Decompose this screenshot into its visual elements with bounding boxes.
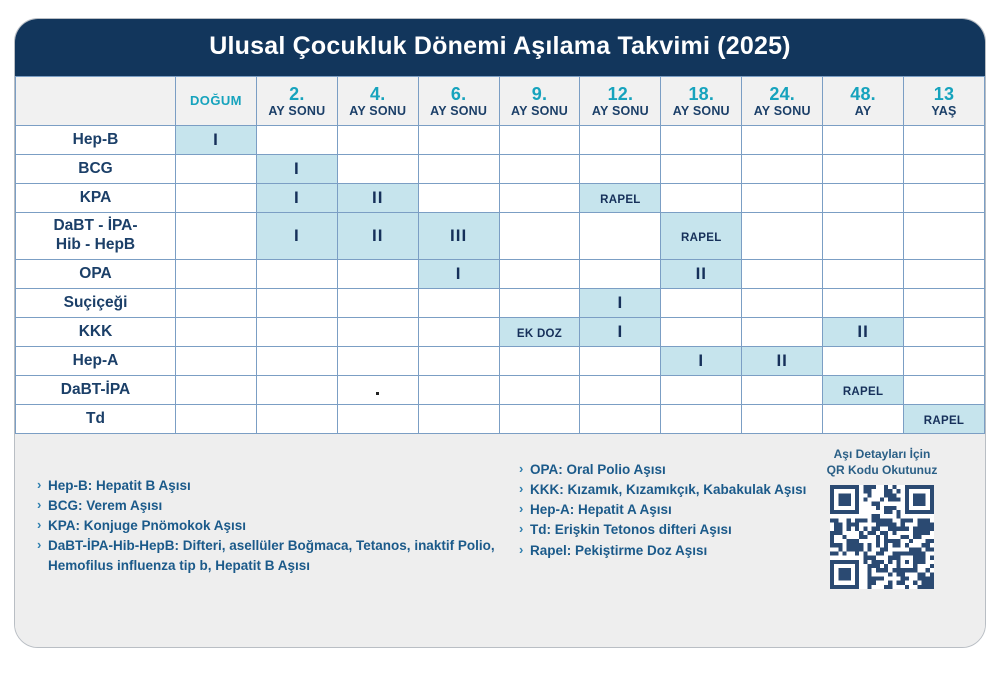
schedule-cell-empty [176,289,257,318]
schedule-cell-empty [176,260,257,289]
schedule-dose-cell: RAPEL [580,184,661,213]
table-row: SuçiçeğiI [16,289,985,318]
qr-code-image[interactable] [830,485,934,589]
header-col-8: 24.AY SONU [742,77,823,126]
chevron-right-icon: › [37,496,48,514]
legend-item: ›Hep-B: Hepatit B Aşısı [37,476,507,495]
schedule-cell-empty [256,260,337,289]
legend-item-label: Hep-B: Hepatit B Aşısı [48,476,507,495]
schedule-cell-empty [337,289,418,318]
dose-text-mark: RAPEL [600,194,640,206]
dose-roman-mark: I [213,130,219,149]
chevron-right-icon: › [519,500,530,518]
schedule-cell-empty [580,376,661,405]
schedule-cell-empty [742,260,823,289]
legend-item: ›DaBT-İPA-Hib-HepB: Difteri, asellüler B… [37,536,507,574]
schedule-dose-cell: II [337,184,418,213]
header-col-9: 48.AY [823,77,904,126]
schedule-dose-cell: RAPEL [661,213,742,260]
legend-item: ›BCG: Verem Aşısı [37,496,507,515]
header-age-unit: AY [823,104,903,118]
schedule-dose-cell: I [580,318,661,347]
dose-roman-mark: II [372,188,383,207]
schedule-cell-empty [256,347,337,376]
schedule-dose-cell: RAPEL [823,376,904,405]
vaccine-name-cell: KPA [16,184,176,213]
header-age-number: 48. [823,84,903,104]
table-row: Hep-AIII [16,347,985,376]
schedule-cell-empty [418,405,499,434]
schedule-dose-cell: I [256,155,337,184]
schedule-cell-empty [742,318,823,347]
schedule-cell-empty [742,155,823,184]
header-col-6: 12.AY SONU [580,77,661,126]
schedule-cell-empty [904,318,985,347]
schedule-dose-cell: I [418,260,499,289]
dose-roman-mark: II [857,322,868,341]
vaccine-name-cell: BCG [16,155,176,184]
schedule-cell-empty [580,405,661,434]
schedule-cell-empty [256,376,337,405]
schedule-cell-empty [661,184,742,213]
legend-item-label: BCG: Verem Aşısı [48,496,507,515]
table-body: Hep-BIBCGIKPAIIIRAPELDaBT - İPA- Hib - H… [16,126,985,434]
schedule-cell-empty [418,184,499,213]
header-age-unit: AY SONU [257,104,337,118]
schedule-cell-empty [742,289,823,318]
schedule-cell-speck [337,376,418,405]
header-age-number: 2. [257,84,337,104]
page-title: Ulusal Çocukluk Dönemi Aşılama Takvimi (… [15,19,985,76]
dose-roman-mark: I [294,188,300,207]
header-col-3: 4.AY SONU [337,77,418,126]
dose-roman-mark: III [450,226,467,245]
page-root: Ulusal Çocukluk Dönemi Aşılama Takvimi (… [0,0,1000,674]
schedule-cell-empty [499,405,580,434]
schedule-cell-empty [176,184,257,213]
header-col-7: 18.AY SONU [661,77,742,126]
schedule-cell-empty [337,318,418,347]
schedule-cell-empty [904,126,985,155]
dose-roman-mark: I [294,226,300,245]
schedule-cell-empty [499,260,580,289]
schedule-cell-empty [661,376,742,405]
vaccine-name-cell: Suçiçeği [16,289,176,318]
header-age-unit: AY SONU [742,104,822,118]
schedule-cell-empty [176,347,257,376]
legend-column-left: ›Hep-B: Hepatit B Aşısı›BCG: Verem Aşısı… [37,454,507,576]
schedule-cell-empty [256,289,337,318]
vaccine-name-cell: DaBT - İPA- Hib - HepB [16,213,176,260]
header-col-10: 13YAŞ [904,77,985,126]
header-age-number: 9. [500,84,580,104]
schedule-cell-empty [499,289,580,318]
header-age-number: 12. [580,84,660,104]
schedule-dose-cell: I [256,184,337,213]
schedule-dose-cell: I [256,213,337,260]
header-age-number: 18. [661,84,741,104]
table-row: DaBT - İPA- Hib - HepBIIIIIIRAPEL [16,213,985,260]
qr-block: Aşı Detayları İçin QR Kodu Okutunuz [807,446,957,589]
schedule-dose-cell: RAPEL [904,405,985,434]
schedule-cell-empty [418,347,499,376]
header-age-number: 24. [742,84,822,104]
schedule-dose-cell: EK DOZ [499,318,580,347]
schedule-cell-empty [823,155,904,184]
dose-text-mark: RAPEL [843,386,883,398]
vaccine-name-cell: OPA [16,260,176,289]
legend-item-label: Rapel: Pekiştirme Doz Aşısı [530,541,819,560]
schedule-cell-empty [661,405,742,434]
table-row: Hep-BI [16,126,985,155]
dose-roman-mark: I [456,264,462,283]
schedule-dose-cell: I [661,347,742,376]
schedule-cell-empty [499,155,580,184]
chevron-right-icon: › [37,516,48,534]
vaccine-name-cell: KKK [16,318,176,347]
dose-roman-mark: I [294,159,300,178]
header-age-number: 6. [419,84,499,104]
header-col-1: DOĞUM [176,77,257,126]
schedule-cell-empty [823,260,904,289]
header-age-unit: AY SONU [419,104,499,118]
legend-item-label: DaBT-İPA-Hib-HepB: Difteri, asellüler Bo… [48,536,507,574]
dose-text-mark: EK DOZ [517,328,562,340]
schedule-cell-empty [904,347,985,376]
schedule-dose-cell: II [337,213,418,260]
schedule-cell-empty [580,260,661,289]
dose-roman-mark: I [618,322,624,341]
table-row: BCGI [16,155,985,184]
schedule-cell-empty [499,213,580,260]
schedule-dose-cell: I [580,289,661,318]
chevron-right-icon: › [37,536,48,554]
schedule-cell-empty [418,318,499,347]
schedule-table-wrap: DOĞUM2.AY SONU4.AY SONU6.AY SONU9.AY SON… [15,76,985,434]
schedule-cell-empty [823,347,904,376]
vaccine-name-cell: Td [16,405,176,434]
chevron-right-icon: › [37,476,48,494]
schedule-dose-cell: III [418,213,499,260]
table-row: DaBT-İPARAPEL [16,376,985,405]
legend-item: ›KKK: Kızamık, Kızamıkçık, Kabakulak Aşı… [519,480,819,499]
schedule-cell-empty [337,126,418,155]
dose-roman-mark: I [618,293,624,312]
schedule-cell-empty [904,155,985,184]
header-age-unit: AY SONU [661,104,741,118]
schedule-cell-empty [418,376,499,405]
header-col-4: 6.AY SONU [418,77,499,126]
vaccine-name-cell: Hep-A [16,347,176,376]
chevron-right-icon: › [519,460,530,478]
schedule-cell-empty [742,184,823,213]
schedule-cell-empty [499,184,580,213]
schedule-cell-empty [176,213,257,260]
table-row: KPAIIIRAPEL [16,184,985,213]
schedule-cell-empty [742,213,823,260]
dose-text-mark: RAPEL [924,415,964,427]
schedule-cell-empty [580,347,661,376]
header-col-2: 2.AY SONU [256,77,337,126]
schedule-dose-cell: II [661,260,742,289]
schedule-cell-empty [499,347,580,376]
schedule-cell-empty [499,126,580,155]
schedule-cell-empty [256,126,337,155]
schedule-cell-empty [742,126,823,155]
schedule-cell-empty [904,260,985,289]
vaccine-name-cell: DaBT-İPA [16,376,176,405]
legend-item-label: Td: Erişkin Tetonos difteri Aşısı [530,520,819,539]
schedule-cell-empty [418,289,499,318]
table-header: DOĞUM2.AY SONU4.AY SONU6.AY SONU9.AY SON… [16,77,985,126]
schedule-cell-empty [337,347,418,376]
dose-roman-mark: II [696,264,707,283]
table-row: TdRAPEL [16,405,985,434]
schedule-cell-empty [176,405,257,434]
schedule-cell-empty [823,213,904,260]
schedule-cell-empty [337,260,418,289]
legend-item: ›OPA: Oral Polio Aşısı [519,460,819,479]
vaccine-name-cell: Hep-B [16,126,176,155]
schedule-cell-empty [904,213,985,260]
schedule-dose-cell: II [742,347,823,376]
schedule-cell-empty [176,318,257,347]
table-row: KKKEK DOZIII [16,318,985,347]
table-row: OPAIII [16,260,985,289]
schedule-cell-empty [499,376,580,405]
schedule-cell-empty [904,289,985,318]
legend-item: ›Hep-A: Hepatit A Aşısı [519,500,819,519]
vaccination-schedule-table: DOĞUM2.AY SONU4.AY SONU6.AY SONU9.AY SON… [15,76,985,434]
schedule-cell-empty [580,213,661,260]
schedule-cell-empty [742,405,823,434]
schedule-cell-empty [337,405,418,434]
header-corner-cell [16,77,176,126]
header-row: DOĞUM2.AY SONU4.AY SONU6.AY SONU9.AY SON… [16,77,985,126]
legend-item: ›Rapel: Pekiştirme Doz Aşısı [519,541,819,560]
schedule-cell-empty [580,126,661,155]
schedule-cell-empty [256,318,337,347]
schedule-cell-empty [904,184,985,213]
header-age-number: 4. [338,84,418,104]
dose-roman-mark: I [698,351,704,370]
schedule-card: Ulusal Çocukluk Dönemi Aşılama Takvimi (… [14,18,986,648]
header-age-unit: YAŞ [904,104,984,118]
schedule-cell-empty [337,155,418,184]
schedule-cell-empty [742,376,823,405]
header-age-number: 13 [904,84,984,104]
schedule-cell-empty [661,289,742,318]
dose-text-mark: RAPEL [681,232,721,244]
schedule-cell-empty [661,318,742,347]
legend-item-label: OPA: Oral Polio Aşısı [530,460,819,479]
schedule-dose-cell: I [176,126,257,155]
header-age-unit: AY SONU [500,104,580,118]
footer-legend-area: ›Hep-B: Hepatit B Aşısı›BCG: Verem Aşısı… [15,434,985,647]
schedule-cell-empty [823,126,904,155]
schedule-cell-empty [418,126,499,155]
qr-caption: Aşı Detayları İçin QR Kodu Okutunuz [807,446,957,478]
schedule-cell-empty [823,184,904,213]
chevron-right-icon: › [519,480,530,498]
schedule-cell-empty [418,155,499,184]
schedule-cell-empty [176,155,257,184]
schedule-cell-empty [823,289,904,318]
legend-item: ›Td: Erişkin Tetonos difteri Aşısı [519,520,819,539]
schedule-cell-empty [176,376,257,405]
dose-roman-mark: II [776,351,787,370]
header-birth-label: DOĞUM [176,94,256,109]
schedule-cell-empty [256,405,337,434]
legend-item-label: KKK: Kızamık, Kızamıkçık, Kabakulak Aşıs… [530,480,819,499]
schedule-cell-empty [823,405,904,434]
legend-item: ›KPA: Konjuge Pnömokok Aşısı [37,516,507,535]
legend-item-label: Hep-A: Hepatit A Aşısı [530,500,819,519]
speck-mark [376,392,379,395]
chevron-right-icon: › [519,541,530,559]
legend-item-label: KPA: Konjuge Pnömokok Aşısı [48,516,507,535]
header-age-unit: AY SONU [580,104,660,118]
header-age-unit: AY SONU [338,104,418,118]
chevron-right-icon: › [519,520,530,538]
schedule-cell-empty [580,155,661,184]
schedule-dose-cell: II [823,318,904,347]
schedule-cell-empty [904,376,985,405]
legend-column-right: ›OPA: Oral Polio Aşısı›KKK: Kızamık, Kız… [519,454,819,576]
schedule-cell-empty [661,155,742,184]
header-col-5: 9.AY SONU [499,77,580,126]
schedule-cell-empty [661,126,742,155]
dose-roman-mark: II [372,226,383,245]
